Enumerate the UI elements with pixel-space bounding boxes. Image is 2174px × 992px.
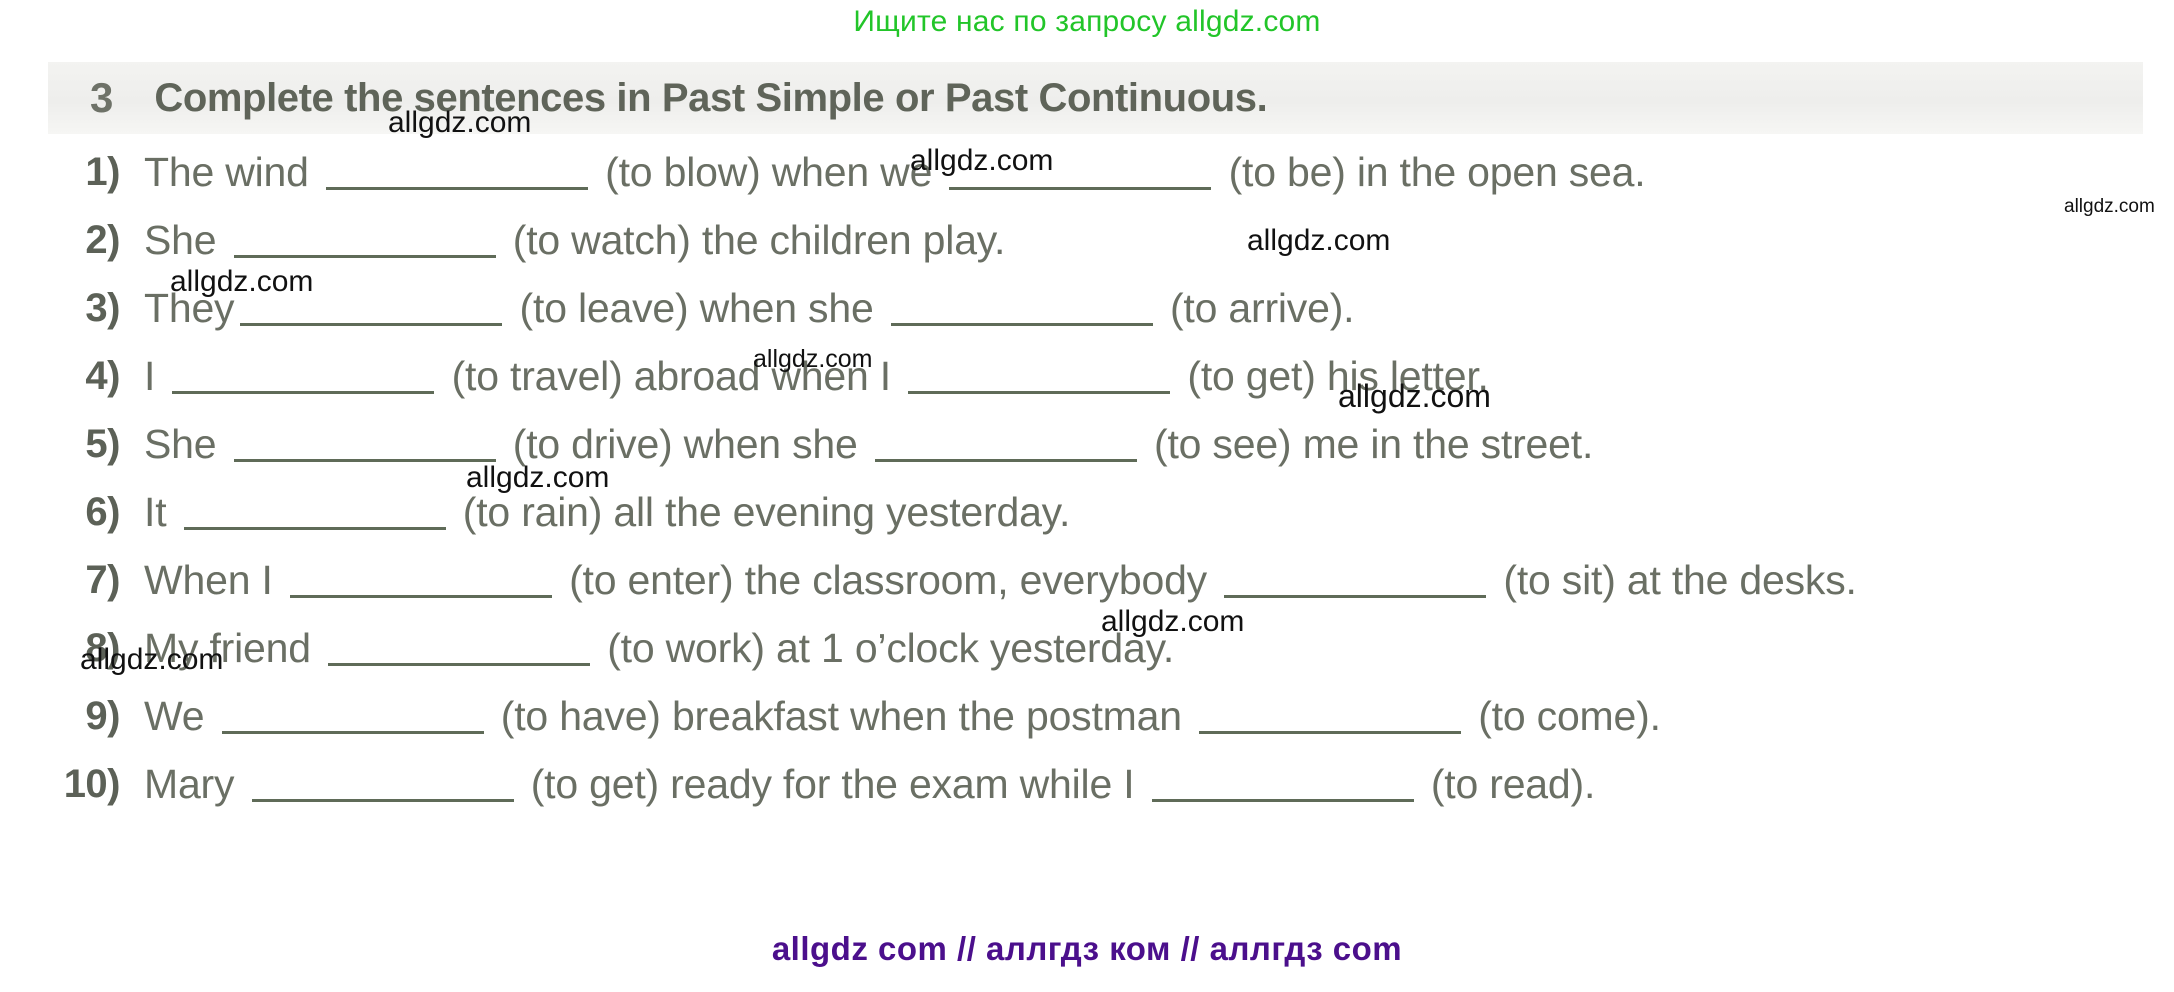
footer-branding-text: allgdz com // аллгдз ком // аллгдз com — [0, 930, 2174, 968]
watermark-text: allgdz.com — [1247, 226, 1390, 256]
sentence-fragment: The wind — [144, 149, 320, 195]
answer-blank[interactable] — [908, 357, 1170, 394]
sentence-fragment: (to work) at 1 o’clock yesterday. — [596, 625, 1174, 671]
sentence-fragment: We — [144, 693, 216, 739]
exercise-header-band: 3 Complete the sentences in Past Simple … — [48, 62, 2143, 134]
question-number: 6) — [48, 480, 144, 544]
question-number: 9) — [48, 684, 144, 748]
answer-blank[interactable] — [326, 153, 588, 190]
promo-banner-text: Ищите нас по запросу allgdz.com — [0, 0, 2174, 44]
exercise-number: 3 — [90, 74, 112, 122]
sentence-fragment: (to arrive). — [1159, 285, 1355, 331]
question-text: They (to leave) when she (to arrive). — [144, 276, 2158, 340]
sentence-fragment: (to get) ready for the exam while I — [520, 761, 1146, 807]
question-text: I (to travel) abroad when I (to get) his… — [144, 344, 2158, 408]
answer-blank[interactable] — [1224, 561, 1486, 598]
answer-blank[interactable] — [1152, 765, 1414, 802]
sentence-fragment: (to see) me in the street. — [1143, 421, 1593, 467]
question-text: She (to watch) the children play. — [144, 208, 2158, 272]
sentence-fragment: (to be) in the open sea. — [1217, 149, 1645, 195]
sentence-fragment: (to sit) at the desks. — [1492, 557, 1857, 603]
sentence-fragment: I — [144, 353, 166, 399]
sentence-fragment: Mary — [144, 761, 246, 807]
question-number: 3) — [48, 276, 144, 340]
sentence-fragment: She — [144, 421, 228, 467]
sentence-fragment: It — [144, 489, 178, 535]
question-row: 5)She (to drive) when she (to see) me in… — [48, 412, 2158, 476]
answer-blank[interactable] — [875, 425, 1137, 462]
watermark-text: allgdz.com — [1101, 607, 1244, 637]
answer-blank[interactable] — [184, 493, 446, 530]
answer-blank[interactable] — [328, 629, 590, 666]
answer-blank[interactable] — [234, 425, 496, 462]
question-text: When I (to enter) the classroom, everybo… — [144, 548, 2158, 612]
question-row: 7)When I (to enter) the classroom, every… — [48, 548, 2158, 612]
watermark-text: allgdz.com — [80, 645, 223, 675]
question-row: 9)We (to have) breakfast when the postma… — [48, 684, 2158, 748]
sentence-fragment: (to enter) the classroom, everybody — [558, 557, 1218, 603]
watermark-text: allgdz.com — [388, 108, 531, 138]
sentence-fragment: (to blow) when we — [594, 149, 943, 195]
question-row: 2)She (to watch) the children play. — [48, 208, 2158, 272]
question-row: 1)The wind (to blow) when we (to be) in … — [48, 140, 2158, 204]
exercise-title: Complete the sentences in Past Simple or… — [154, 76, 1267, 121]
sentence-fragment: (to rain) all the evening yesterday. — [452, 489, 1071, 535]
question-number: 7) — [48, 548, 144, 612]
sentence-fragment: When I — [144, 557, 284, 603]
sentence-fragment: She — [144, 217, 228, 263]
watermark-text: allgdz.com — [170, 267, 313, 297]
answer-blank[interactable] — [290, 561, 552, 598]
watermark-text: allgdz.com — [1338, 380, 1491, 412]
sentence-fragment: (to leave) when she — [508, 285, 884, 331]
sentence-fragment: (to watch) the children play. — [502, 217, 1006, 263]
answer-blank[interactable] — [252, 765, 514, 802]
answer-blank[interactable] — [234, 221, 496, 258]
sentence-fragment: (to come). — [1467, 693, 1661, 739]
question-row: 10)Mary (to get) ready for the exam whil… — [48, 752, 2158, 816]
answer-blank[interactable] — [172, 357, 434, 394]
sentence-fragment: (to have) breakfast when the postman — [490, 693, 1193, 739]
watermark-text: allgdz.com — [466, 463, 609, 493]
watermark-text: allgdz.com — [2064, 197, 2155, 216]
question-text: Mary (to get) ready for the exam while I… — [144, 752, 2158, 816]
watermark-text: allgdz.com — [910, 146, 1053, 176]
question-text: The wind (to blow) when we (to be) in th… — [144, 140, 2158, 204]
sentence-fragment: (to read). — [1420, 761, 1596, 807]
question-row: 3)They (to leave) when she (to arrive). — [48, 276, 2158, 340]
watermark-text: allgdz.com — [753, 347, 873, 372]
question-text: She (to drive) when she (to see) me in t… — [144, 412, 2158, 476]
question-number: 10) — [48, 752, 144, 816]
question-row: 4)I (to travel) abroad when I (to get) h… — [48, 344, 2158, 408]
answer-blank[interactable] — [1199, 697, 1461, 734]
question-number: 1) — [48, 140, 144, 204]
question-number: 4) — [48, 344, 144, 408]
answer-blank[interactable] — [891, 289, 1153, 326]
question-text: We (to have) breakfast when the postman … — [144, 684, 2158, 748]
question-row: 6)It (to rain) all the evening yesterday… — [48, 480, 2158, 544]
question-number: 2) — [48, 208, 144, 272]
answer-blank[interactable] — [222, 697, 484, 734]
question-number: 5) — [48, 412, 144, 476]
question-text: It (to rain) all the evening yesterday. — [144, 480, 2158, 544]
exercise-question-list: 1)The wind (to blow) when we (to be) in … — [48, 140, 2158, 820]
